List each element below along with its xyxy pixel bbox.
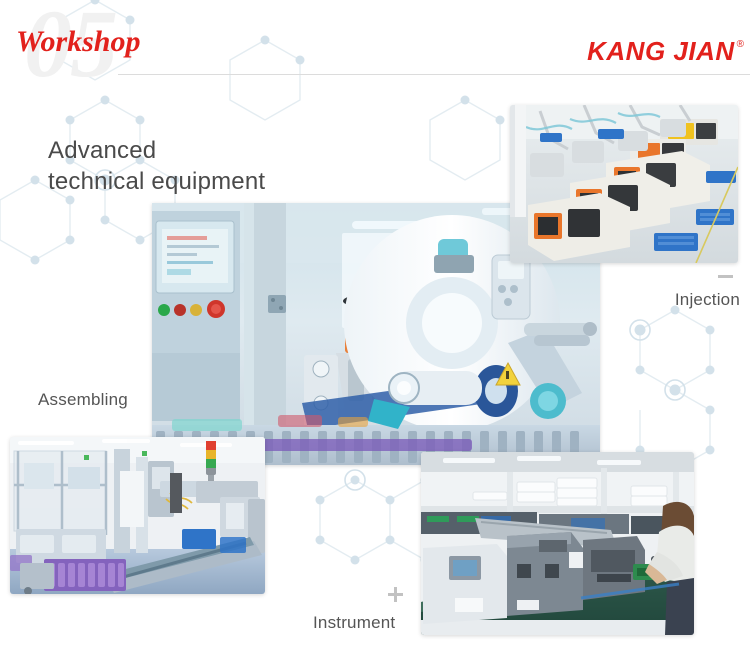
brand-name: KANG JIAN xyxy=(587,38,735,64)
header-divider xyxy=(118,74,750,75)
photo-injection-molding xyxy=(510,105,738,263)
headline-line-1: Advanced xyxy=(48,135,265,166)
registered-trademark-icon: ® xyxy=(737,39,744,50)
headline-line-2: technical equipment xyxy=(48,166,265,197)
workshop-slide: 05 Workshop KANG JIAN ® Advanced technic… xyxy=(0,0,750,660)
dash-marker-icon xyxy=(718,275,733,278)
brand-logo: KANG JIAN ® xyxy=(587,38,744,64)
page-title: Workshop xyxy=(16,27,140,57)
caption-instrument: Instrument xyxy=(313,613,395,633)
plus-marker-icon xyxy=(388,587,403,602)
photo-instrument-assembly xyxy=(421,452,694,635)
caption-injection: Injection xyxy=(675,290,740,310)
headline: Advanced technical equipment xyxy=(48,135,265,197)
caption-assembling: Assembling xyxy=(38,390,128,410)
photo-assembling-line xyxy=(10,437,265,594)
